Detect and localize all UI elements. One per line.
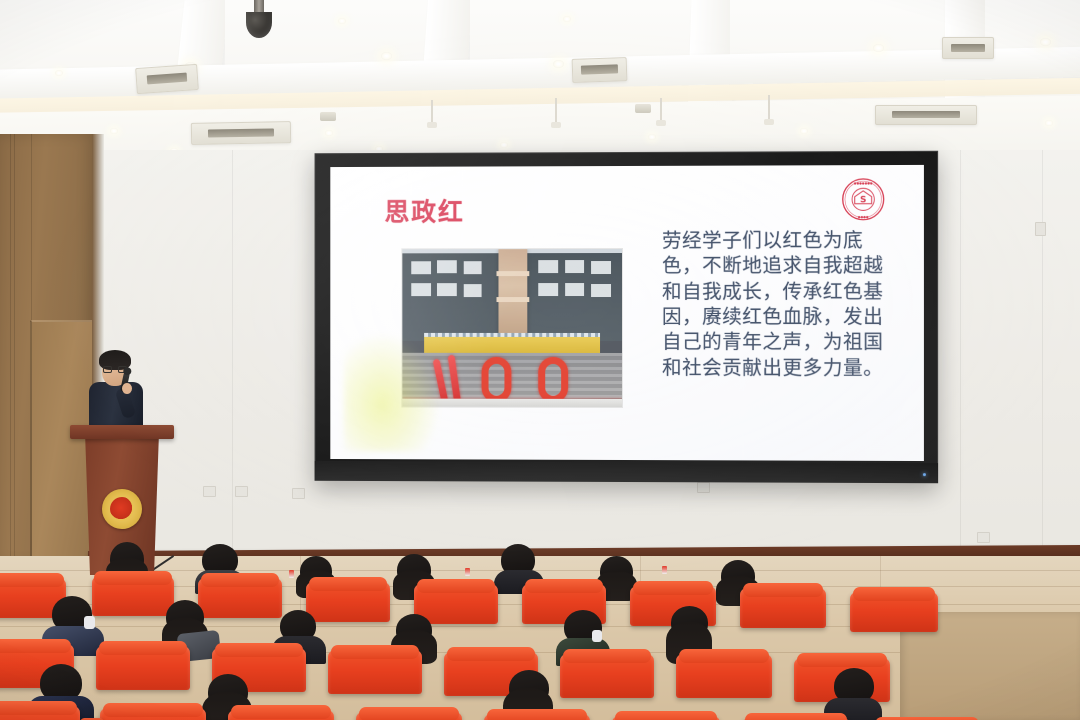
recessed-downlight <box>1045 120 1053 126</box>
ceiling-track-light <box>320 112 336 121</box>
podium-gold-emblem <box>102 489 142 529</box>
auditorium-seat[interactable] <box>96 646 190 690</box>
ceiling-track-light <box>635 104 651 113</box>
auditorium-seat[interactable] <box>484 714 590 720</box>
ceiling-hvac-vent <box>942 37 994 59</box>
svg-text:●●●●: ●●●● <box>858 215 869 219</box>
recessed-downlight <box>1040 38 1051 46</box>
recessed-downlight <box>563 16 571 22</box>
recessed-downlight <box>110 128 118 134</box>
yellow-decorative-watermark <box>344 334 439 452</box>
wall-outlet-plate[interactable] <box>292 488 305 499</box>
ceiling-hvac-vent <box>135 64 199 94</box>
recessed-downlight <box>800 128 808 134</box>
auditorium-seat[interactable] <box>100 708 206 720</box>
recessed-downlight <box>873 44 884 52</box>
auditorium-seat[interactable] <box>356 712 462 720</box>
ceiling-hanger-rod <box>660 98 662 122</box>
wall-control-plate[interactable] <box>1035 222 1046 236</box>
dome-security-camera <box>246 0 272 42</box>
presentation-slide: 思政红 S ●●●●●●● ●●●● <box>330 165 924 461</box>
ceiling-hanger-rod <box>555 98 557 124</box>
auditorium-seat[interactable] <box>850 592 938 632</box>
ceiling-hanger-rod <box>768 95 770 121</box>
speaker-hand <box>122 383 132 394</box>
auditorium-seat[interactable] <box>0 706 80 720</box>
auditorium-seat[interactable] <box>676 654 772 698</box>
svg-text:S: S <box>860 195 866 205</box>
recessed-downlight <box>381 52 392 60</box>
svg-text:●●●●●●●: ●●●●●●● <box>854 181 873 185</box>
recessed-downlight <box>338 18 346 24</box>
ceiling-hanger-rod <box>431 100 433 124</box>
auditorium-seat[interactable] <box>612 716 720 720</box>
audience-seating <box>0 548 1080 720</box>
ceiling <box>0 0 1080 160</box>
screen-bezel-bottom <box>315 461 939 483</box>
ceiling-hvac-vent <box>572 57 628 83</box>
auditorium-scene: 思政红 S ●●●●●●● ●●●● <box>0 0 1080 720</box>
water-bottle <box>662 566 667 574</box>
auditorium-seat[interactable] <box>228 710 334 720</box>
wall-outlet-plate[interactable] <box>697 482 710 493</box>
slide-title: 思政红 <box>385 192 465 228</box>
recessed-downlight <box>648 134 656 140</box>
recessed-downlight <box>500 142 508 148</box>
water-bottle <box>289 570 294 578</box>
recessed-downlight <box>553 60 564 68</box>
wall-outlet-plate[interactable] <box>203 486 216 497</box>
screen-status-led <box>923 473 926 476</box>
wall-outlet-plate[interactable] <box>977 532 990 543</box>
podium-top-surface <box>70 425 174 439</box>
recessed-downlight <box>55 70 63 76</box>
ceiling-hvac-vent <box>191 121 291 145</box>
ceiling-hvac-vent <box>875 105 977 125</box>
university-seal-logo: S ●●●●●●● ●●●● <box>841 177 885 221</box>
water-bottle <box>465 568 470 576</box>
auditorium-seat[interactable] <box>328 650 422 694</box>
recessed-downlight <box>325 130 333 136</box>
auditorium-seat[interactable] <box>560 654 654 698</box>
wall-outlet-plate[interactable] <box>235 486 248 497</box>
projection-screen[interactable]: 思政红 S ●●●●●●● ●●●● <box>315 151 939 483</box>
slide-body-text: 劳经学子们以红色为底色，不断地追求自我超越和自我成长，传承红色基因，赓续红色血脉… <box>662 227 896 380</box>
auditorium-seat[interactable] <box>740 588 826 628</box>
